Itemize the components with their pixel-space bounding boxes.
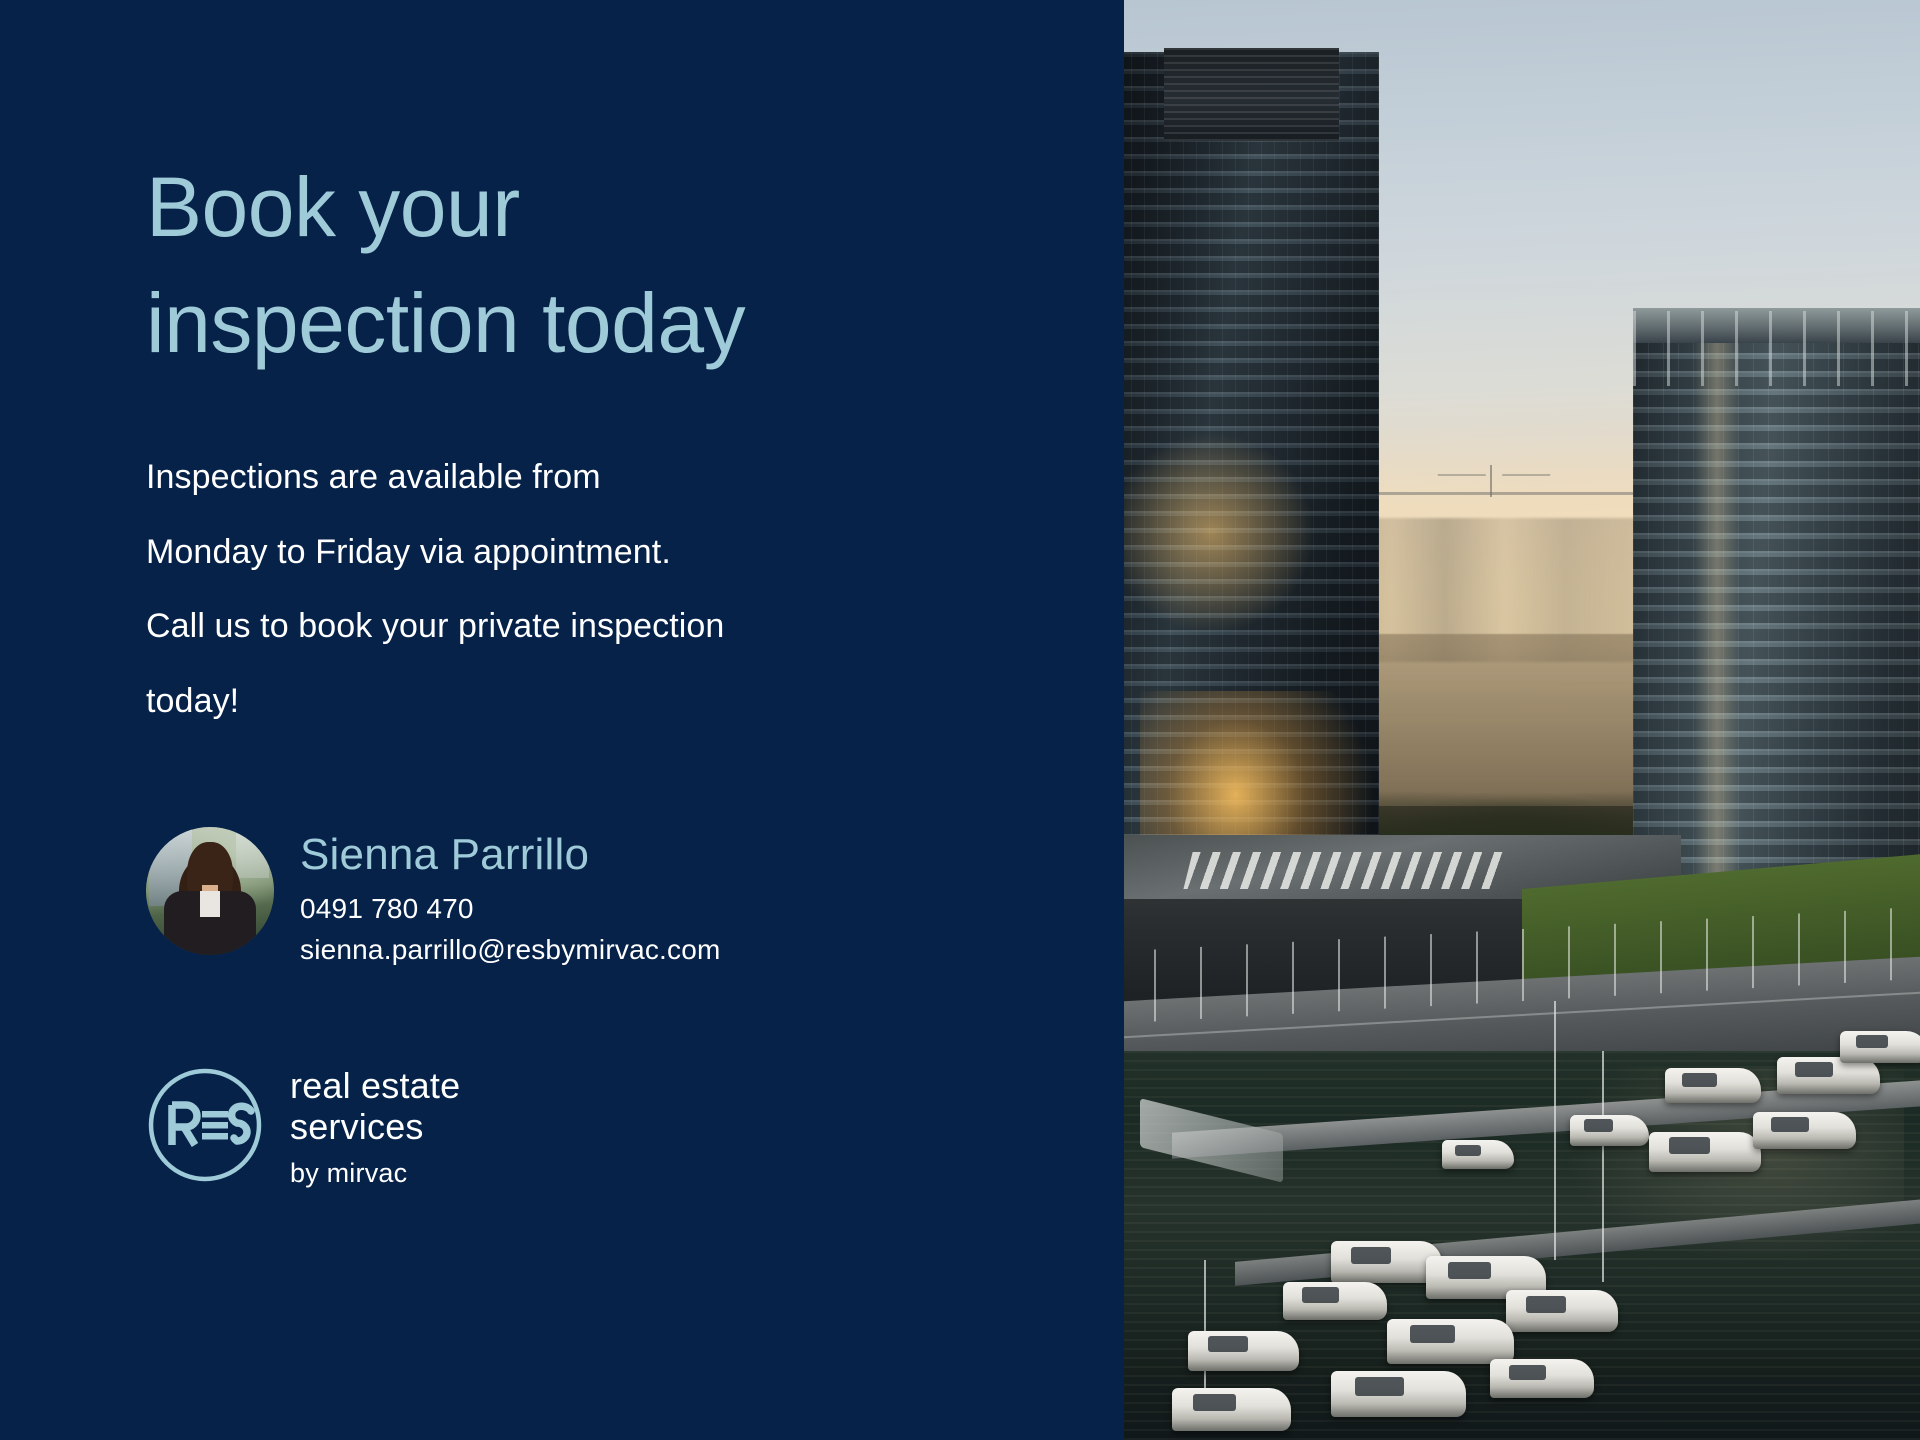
avatar	[146, 827, 274, 955]
avatar-building-right	[236, 827, 269, 878]
agent-phone[interactable]: 0491 780 470	[300, 889, 721, 930]
tower-right-sunlight-sheen	[1694, 317, 1741, 893]
boat	[1172, 1388, 1291, 1431]
page-title: Book your inspection today	[146, 150, 976, 382]
body-line-1: Inspections are available from	[146, 440, 1016, 515]
content-panel: Book your inspection today Inspections a…	[0, 0, 1124, 1440]
bridge-cable-left	[1438, 474, 1495, 497]
boat	[1753, 1112, 1856, 1149]
boat	[1506, 1290, 1617, 1332]
bridge-cable-right	[1493, 474, 1550, 497]
headline-line-2: inspection today	[146, 266, 976, 382]
tower-right	[1633, 317, 1920, 893]
agent-email[interactable]: sienna.parrillo@resbymirvac.com	[300, 930, 721, 971]
boat	[1840, 1031, 1920, 1063]
rooftop-markings	[1183, 852, 1511, 889]
boat	[1665, 1068, 1761, 1103]
boat	[1387, 1319, 1514, 1364]
body-line-4: today!	[146, 664, 1016, 739]
logo-line-2: services	[290, 1107, 460, 1147]
boat	[1570, 1115, 1650, 1147]
agent-name: Sienna Parrillo	[300, 829, 721, 881]
boat	[1331, 1371, 1466, 1417]
res-logo: real estate services by mirvac	[146, 1066, 1124, 1189]
boat	[1283, 1282, 1386, 1321]
sailboat-mast-2	[1602, 1051, 1604, 1281]
body-line-2: Monday to Friday via appointment.	[146, 515, 1016, 590]
agent-contact-block: Sienna Parrillo 0491 780 470 sienna.parr…	[146, 827, 1124, 970]
body-line-3: Call us to book your private inspection	[146, 589, 1016, 664]
tower-right-mullions	[1633, 317, 1920, 893]
boat	[1442, 1140, 1514, 1169]
tower-right-roof-frame	[1633, 311, 1920, 386]
logo-line-3: by mirvac	[290, 1159, 460, 1189]
boat	[1490, 1359, 1593, 1398]
boat	[1188, 1331, 1299, 1371]
boat	[1649, 1132, 1760, 1172]
body-copy: Inspections are available from Monday to…	[146, 440, 1016, 739]
hero-photo	[1124, 0, 1920, 1440]
tower-left-crown	[1164, 48, 1339, 142]
agent-details: Sienna Parrillo 0491 780 470 sienna.parr…	[300, 827, 721, 970]
avatar-shirt	[200, 891, 220, 917]
sailboat-mast-1	[1554, 1001, 1556, 1260]
promo-slide: Book your inspection today Inspections a…	[0, 0, 1920, 1440]
headline-line-1: Book your	[146, 150, 976, 266]
tower-left-window-glow-upper	[1124, 432, 1315, 634]
res-logo-wordmark: real estate services by mirvac	[290, 1066, 460, 1188]
logo-line-1: real estate	[290, 1066, 460, 1106]
res-monogram-icon	[146, 1066, 264, 1189]
